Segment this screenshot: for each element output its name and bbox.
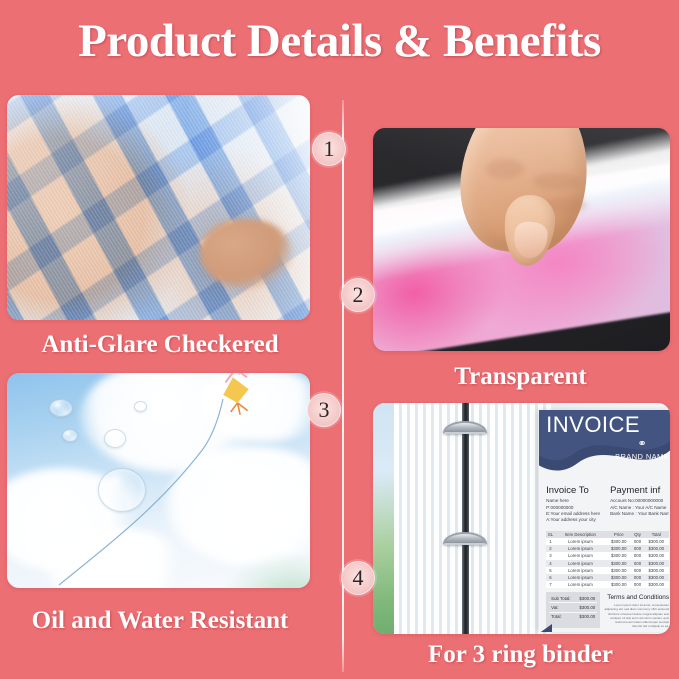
cell-qty: 000 — [632, 538, 644, 545]
column-header: Item Description — [555, 531, 606, 538]
caption-transparent: Transparent — [362, 363, 679, 391]
totals-label: Vat: — [551, 605, 558, 610]
cell-total: $300.00 — [643, 574, 669, 581]
cell-desc: Lorem ipsum — [555, 574, 606, 581]
cell-sl: 3 — [546, 552, 555, 559]
cell-qty: 000 — [632, 560, 644, 567]
invoice-footer: Sub Total: $300.00 Vat: $300.00 Total: $… — [546, 592, 669, 628]
product-photo-transparent — [373, 128, 670, 351]
table-row: 6 Lorem ipsum $300.00 000 $300.00 — [546, 574, 669, 581]
cell-price: $300.00 — [606, 560, 632, 567]
photo1-gloss-overlay — [7, 95, 310, 320]
photo3-kite-body — [219, 373, 254, 417]
cell-sl: 6 — [546, 574, 555, 581]
invoice-items-table: SL Item Description Price Qty Total 1 Lo… — [546, 531, 669, 589]
badge-number-3: 3 — [307, 393, 341, 427]
column-header: SL — [546, 531, 555, 538]
cell-price: $300.00 — [606, 574, 632, 581]
cell-desc: Lorem ipsum — [555, 552, 606, 559]
cell-total: $300.00 — [643, 545, 669, 552]
column-header: Qty — [632, 531, 644, 538]
cell-price: $300.00 — [606, 581, 632, 588]
table-row: 3 Lorem ipsum $300.00 000 $300.00 — [546, 552, 669, 559]
product-photo-binder: INVOICE ⚭ BRAND NAME Invoice To Name her… — [373, 403, 670, 634]
cell-sl: 1 — [546, 538, 555, 545]
table-row: 2 Lorem ipsum $300.00 000 $300.00 — [546, 545, 669, 552]
cell-qty: 000 — [632, 581, 644, 588]
cell-qty: 000 — [632, 574, 644, 581]
product-benefits-poster: Product Details & Benefits Anti-Glare Ch… — [0, 0, 679, 679]
invoice-title: INVOICE — [546, 412, 640, 438]
invoice-table-body: 1 Lorem ipsum $300.00 000 $300.00 2 Lore… — [546, 538, 669, 588]
photo3-water-droplet-5 — [98, 468, 146, 512]
photo4-sheet-protector-sleeve — [394, 403, 551, 634]
payment-line: A/C Name : Your A/C Name — [610, 505, 669, 511]
cell-sl: 2 — [546, 545, 555, 552]
photo2-gloss-overlay — [373, 128, 670, 351]
invoice-bill-to: Invoice To Name here P:000000000 E:Your … — [546, 485, 605, 523]
photo4-binder-spine — [462, 403, 469, 634]
invoice-terms: Terms and Conditions Lorem ipsum dolor s… — [600, 592, 669, 628]
terms-heading: Terms and Conditions — [604, 594, 669, 601]
cell-total: $300.00 — [643, 552, 669, 559]
invoice-document: INVOICE ⚭ BRAND NAME Invoice To Name her… — [539, 410, 670, 632]
cell-desc: Lorem ipsum — [555, 581, 606, 588]
table-row: 5 Lorem ipsum $300.00 000 $300.00 — [546, 567, 669, 574]
caption-for-3-ring-binder: For 3 ring binder — [362, 641, 679, 669]
brand-monogram-icon: ⚭ — [615, 439, 669, 450]
column-header: Total — [643, 531, 669, 538]
totals-label: Total: — [551, 614, 562, 619]
cell-desc: Lorem ipsum — [555, 560, 606, 567]
invoice-info-columns: Invoice To Name here P:000000000 E:Your … — [539, 485, 670, 523]
photo3-water-droplet-1 — [49, 399, 73, 417]
payment-heading: Payment inf — [610, 485, 669, 496]
badge-number-1: 1 — [312, 132, 346, 166]
cell-total: $300.00 — [643, 538, 669, 545]
cell-desc: Lorem ipsum — [555, 538, 606, 545]
product-photo-anti-glare — [7, 95, 310, 320]
table-row: 4 Lorem ipsum $300.00 000 $300.00 — [546, 560, 669, 567]
product-photo-water-resistant — [7, 373, 310, 588]
photo3-water-droplet-3 — [62, 429, 78, 442]
terms-body: Lorem ipsum dolor sit amet, consectetuer… — [604, 603, 669, 628]
payment-line: Account No:00000000000 — [610, 498, 669, 504]
badge-number-4: 4 — [341, 561, 375, 595]
payment-line: Bank Name : Your Bank Name — [610, 511, 669, 517]
invoice-to-line: E:Your email address here — [546, 511, 605, 517]
cell-sl: 4 — [546, 560, 555, 567]
invoice-brand-name: BRAND NAME — [615, 452, 669, 461]
column-header: Price — [606, 531, 632, 538]
invoice-payment-info: Payment inf Account No:00000000000 A/C N… — [610, 485, 669, 523]
cell-price: $300.00 — [606, 552, 632, 559]
totals-value: $300.00 — [579, 596, 595, 601]
totals-label: Sub Total: — [551, 596, 570, 601]
totals-row: Sub Total: $300.00 — [549, 594, 597, 603]
table-header-row: SL Item Description Price Qty Total — [546, 531, 669, 538]
invoice-to-line: A:Your address your city — [546, 517, 605, 523]
cell-desc: Lorem ipsum — [555, 567, 606, 574]
cell-total: $300.00 — [643, 560, 669, 567]
cell-price: $300.00 — [606, 538, 632, 545]
cell-total: $300.00 — [643, 581, 669, 588]
cell-sl: 5 — [546, 567, 555, 574]
totals-value: $300.00 — [579, 605, 595, 610]
cell-price: $300.00 — [606, 567, 632, 574]
page-title: Product Details & Benefits — [0, 14, 679, 68]
cell-qty: 000 — [632, 545, 644, 552]
cell-desc: Lorem ipsum — [555, 545, 606, 552]
badge-number-2: 2 — [341, 278, 375, 312]
cell-qty: 000 — [632, 567, 644, 574]
invoice-brand: ⚭ BRAND NAME — [615, 439, 669, 461]
photo3-green-corner-haze — [225, 554, 310, 588]
totals-value: $300.00 — [579, 614, 595, 619]
invoice-corner-accent — [539, 624, 552, 632]
invoice-totals: Sub Total: $300.00 Vat: $300.00 Total: $… — [546, 592, 600, 628]
photo3-water-droplet-4 — [104, 429, 126, 448]
cell-qty: 000 — [632, 552, 644, 559]
cell-sl: 7 — [546, 581, 555, 588]
cell-total: $300.00 — [643, 567, 669, 574]
totals-row: Vat: $300.00 — [549, 603, 597, 612]
table-row: 1 Lorem ipsum $300.00 000 $300.00 — [546, 538, 669, 545]
invoice-to-heading: Invoice To — [546, 485, 605, 496]
cell-price: $300.00 — [606, 545, 632, 552]
totals-row: Total: $300.00 — [549, 613, 597, 621]
table-row: 7 Lorem ipsum $300.00 000 $300.00 — [546, 581, 669, 588]
caption-anti-glare: Anti-Glare Checkered — [0, 331, 320, 359]
caption-oil-water-resistant: Oil and Water Resistant — [0, 607, 320, 635]
